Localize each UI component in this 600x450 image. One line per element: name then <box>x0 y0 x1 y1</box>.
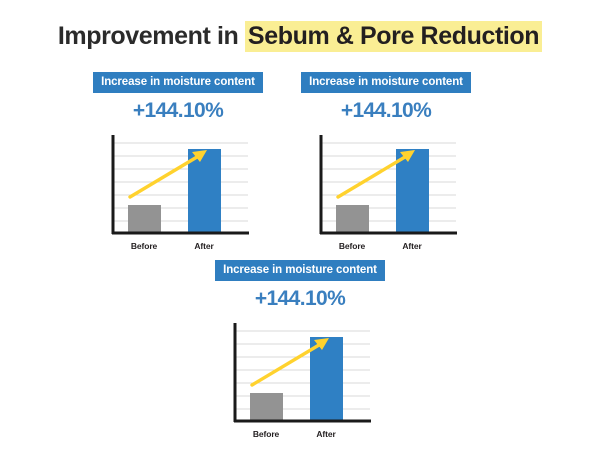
metric-badge: Increase in moisture content <box>93 72 263 93</box>
metric-panel: Increase in moisture content +144.10% <box>202 260 398 443</box>
bar-before <box>336 205 369 233</box>
axis-label-before: Before <box>253 429 279 439</box>
page-title: Improvement in Sebum & Pore Reduction <box>0 22 600 51</box>
bar-after <box>310 337 343 421</box>
chart-svg <box>106 135 250 239</box>
before-after-bar-chart <box>106 135 250 239</box>
axis-label-after: After <box>316 429 335 439</box>
chart-svg <box>228 323 372 427</box>
page-title-highlight: Sebum & Pore Reduction <box>245 21 542 52</box>
bar-after <box>188 149 221 233</box>
metric-panel: Increase in moisture content +144.10% <box>80 72 276 255</box>
metric-panel: Increase in moisture content +144.10% <box>288 72 484 255</box>
metric-badge: Increase in moisture content <box>215 260 385 281</box>
axis-label-before: Before <box>339 241 365 251</box>
metric-value: +144.10% <box>202 288 398 309</box>
axis-label-after: After <box>402 241 421 251</box>
before-after-bar-chart <box>314 135 458 239</box>
axis-label-after: After <box>194 241 213 251</box>
bar-before <box>250 393 283 421</box>
metric-value: +144.10% <box>80 100 276 121</box>
axis-label-before: Before <box>131 241 157 251</box>
metric-badge: Increase in moisture content <box>301 72 471 93</box>
chart-axis-labels: Before After <box>106 241 250 255</box>
chart-axis-labels: Before After <box>228 429 372 443</box>
before-after-bar-chart <box>228 323 372 427</box>
metric-value: +144.10% <box>288 100 484 121</box>
chart-axis-labels: Before After <box>314 241 458 255</box>
chart-svg <box>314 135 458 239</box>
bar-after <box>396 149 429 233</box>
page-title-plain: Improvement in <box>58 22 245 50</box>
bar-before <box>128 205 161 233</box>
